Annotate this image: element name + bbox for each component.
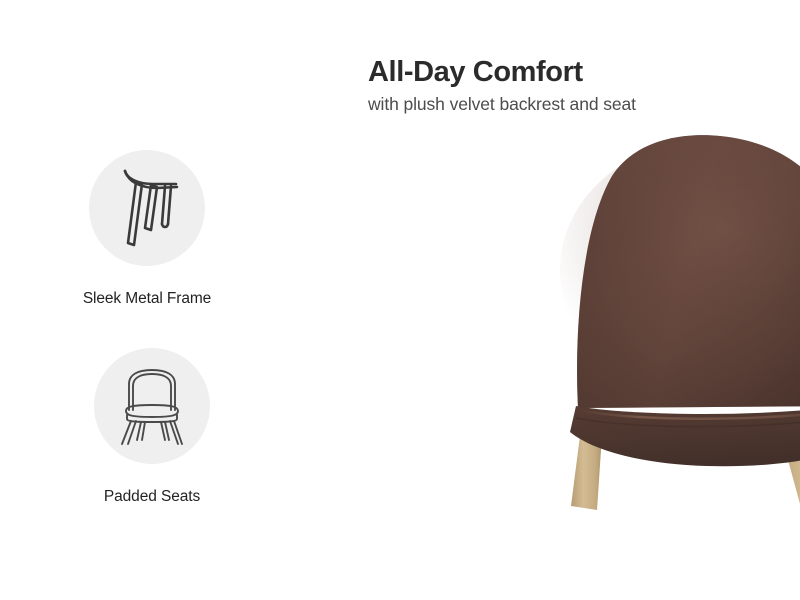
chair-seat [570, 404, 800, 466]
feature-icon-badge [94, 348, 210, 464]
feature-item-padded-seats: Padded Seats [2, 348, 302, 507]
page-subtitle: with plush velvet backrest and seat [368, 94, 788, 115]
headline-block: All-Day Comfort with plush velvet backre… [368, 56, 788, 115]
chair-backrest [560, 135, 800, 408]
page-title: All-Day Comfort [368, 56, 788, 88]
hairpin-metal-legs-icon [107, 164, 187, 252]
product-image-brown-velvet-chair [470, 120, 800, 600]
feature-label: Sleek Metal Frame [0, 290, 297, 309]
upholstered-chair-icon [111, 366, 193, 446]
chair-legs [571, 414, 800, 510]
infographic-canvas: All-Day Comfort with plush velvet backre… [0, 0, 800, 600]
feature-item-sleek-metal-frame: Sleek Metal Frame [0, 150, 297, 309]
feature-icon-badge [89, 150, 205, 266]
feature-label: Padded Seats [2, 488, 302, 507]
